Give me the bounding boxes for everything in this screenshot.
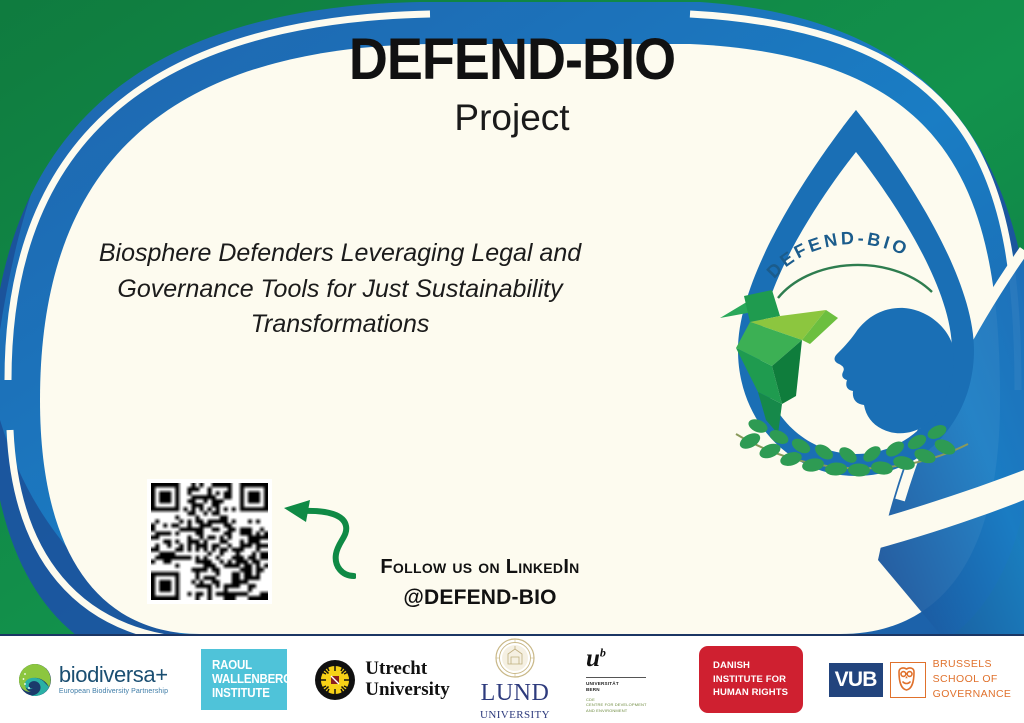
rwi-line-1: RAOUL (212, 658, 272, 672)
social-handle[interactable]: @DEFEND-BIO (300, 586, 660, 610)
poster-canvas: DEFEND-BIO Project Biosphere Defenders L… (0, 0, 1024, 723)
dihr-line-3: HUMAN RIGHTS (713, 686, 803, 699)
utrecht-line-2: University (365, 680, 449, 701)
lund-seal-icon (495, 638, 535, 678)
lund-wordmark: LUND (481, 680, 550, 707)
dihr-line-2: INSTITUTE FOR (713, 673, 803, 686)
owl-icon (890, 662, 926, 698)
biodiversa-wordmark: biodiversa+ (59, 663, 168, 686)
qr-code-canvas (151, 483, 268, 600)
bern-ub-mark: ub (586, 646, 606, 671)
biodiversa-tagline: European Biodiversity Partnership (59, 688, 168, 695)
logo-utrecht-university[interactable]: Utrecht University (302, 636, 462, 723)
logo-danish-institute-human-rights[interactable]: DANISH INSTITUTE FOR HUMAN RIGHTS (680, 636, 822, 723)
page-title: DEFEND-BIO (36, 26, 988, 93)
utrecht-line-1: Utrecht (365, 659, 449, 680)
utrecht-sun-icon (314, 659, 356, 701)
logo-biodiversa[interactable]: biodiversa+ European Biodiversity Partne… (0, 636, 186, 723)
logo-raoul-wallenberg-institute[interactable]: RAOUL WALLENBERG INSTITUTE (186, 636, 302, 723)
logo-university-of-bern[interactable]: ub UNIVERSITÄT BERN CDE CENTRE FOR DEVEL… (568, 636, 680, 723)
origami-hummingbird-icon (720, 290, 838, 434)
qr-code[interactable] (147, 479, 272, 604)
bern-cde-3: AND ENVIRONMENT (586, 708, 627, 713)
defend-bio-logo-artwork: DEFEND-BIO (706, 104, 1006, 504)
partner-logo-bar: biodiversa+ European Biodiversity Partne… (0, 636, 1024, 723)
bsg-line-2: SCHOOL OF (933, 672, 1012, 687)
bern-divider (586, 677, 646, 678)
logo-lund-university[interactable]: LUND UNIVERSITY (462, 636, 568, 723)
follow-label: Follow us on LinkedIn (300, 556, 660, 579)
project-tagline: Biosphere Defenders Leveraging Legal and… (80, 236, 600, 343)
rwi-line-3: INSTITUTE (212, 686, 272, 700)
follow-cta: Follow us on LinkedIn @DEFEND-BIO (300, 556, 660, 610)
bsg-line-1: BRUSSELS (933, 657, 1012, 672)
bern-name-2: BERN (586, 687, 600, 693)
logo-vub-brussels-school-of-governance[interactable]: VUB BRUSSELS SCHOOL OF GOVERNANCE (822, 636, 1018, 723)
vub-box: VUB (829, 663, 883, 697)
biodiversa-swirl-icon (18, 663, 52, 697)
vub-wordmark: VUB (835, 668, 877, 692)
rwi-line-2: WALLENBERG (212, 672, 272, 686)
lund-subword: UNIVERSITY (480, 709, 550, 721)
bsg-line-3: GOVERNANCE (933, 687, 1012, 702)
dihr-line-1: DANISH (713, 659, 803, 672)
